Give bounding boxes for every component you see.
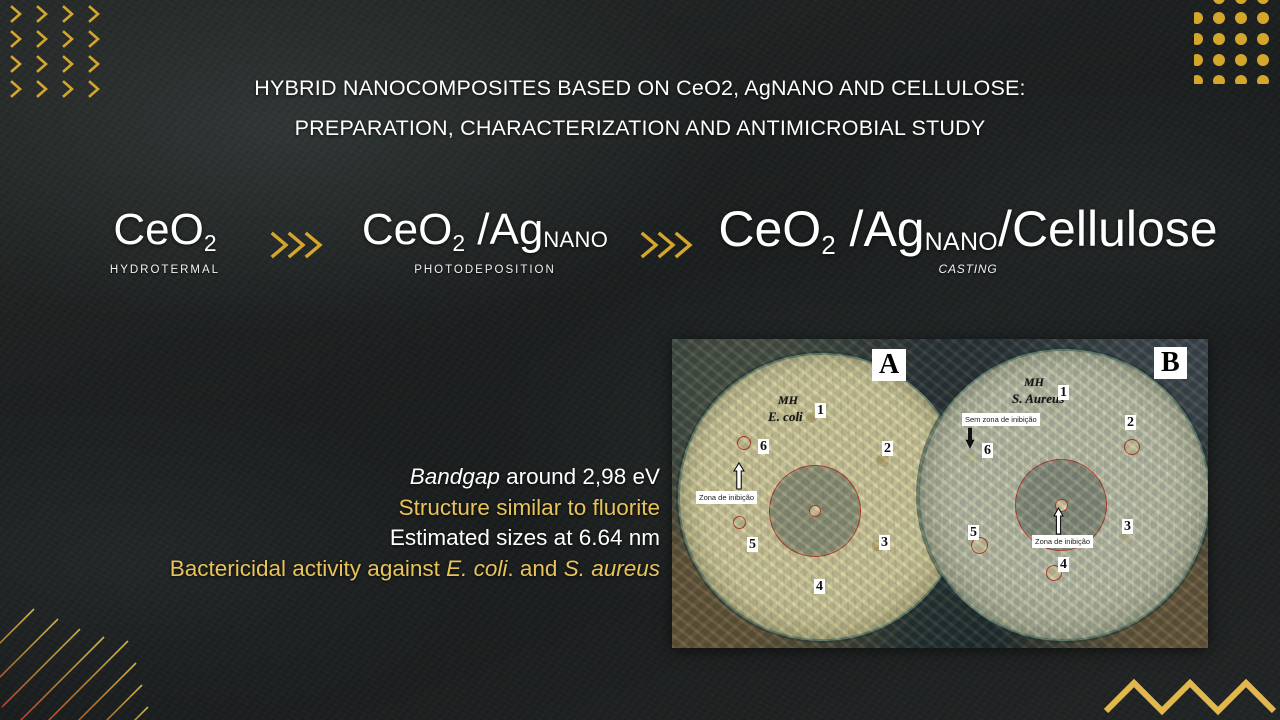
zigzag-decoration — [1100, 665, 1280, 720]
flow-step-1-formula: CeO2 — [95, 208, 235, 252]
title-line-1: HYBRID NANOCOMPOSITES BASED ON CeO2, AgN… — [130, 68, 1150, 108]
spot-number-b-2: 2 — [1125, 415, 1136, 430]
sample-spot-b-6 — [964, 451, 976, 463]
finding-item-1: Bandgap around 2,98 eV — [40, 462, 660, 493]
page-title: HYBRID NANOCOMPOSITES BASED ON CeO2, AgN… — [130, 68, 1150, 148]
spot-number-a-5: 5 — [747, 537, 758, 552]
callout-a-zone: Zona de inibição — [696, 491, 757, 504]
callout-arrow-b-no-zone — [964, 427, 976, 449]
chevron-pattern-decoration — [8, 2, 118, 102]
dot-grid-decoration — [1194, 0, 1280, 84]
handwriting-b-medium: MH — [1024, 375, 1044, 390]
spot-number-a-2: 2 — [882, 441, 893, 456]
spot-number-b-1: 1 — [1058, 385, 1069, 400]
finding-item-3: Estimated sizes at 6.64 nm — [40, 523, 660, 554]
flow-step-2-process-label: PHOTODEPOSITION — [350, 264, 620, 276]
flow-separator-icon-1 — [268, 228, 328, 262]
panel-label-b: B — [1154, 347, 1187, 379]
inhibition-zone-a-spot5 — [733, 516, 746, 529]
callout-arrow-a — [732, 462, 746, 490]
handwriting-b-species: S. Aureus — [1012, 391, 1064, 407]
finding-item-2: Structure similar to fluorite — [40, 493, 660, 524]
callout-b-no-zone: Sem zona de inibição — [962, 413, 1040, 426]
synthesis-flow-diagram: CeO2 HYDROTERMAL CeO2 /AgNANO PHOTODEPOS… — [0, 200, 1280, 310]
inhibition-zone-a-spot6 — [737, 436, 751, 450]
finding-item-4: Bactericidal activity against E. coli. a… — [40, 554, 660, 585]
petri-dish-photograph: A MH E. coli 1 2 6 3 4 5 Zona de inibiçã… — [672, 339, 1208, 648]
sample-spot-b-3 — [1120, 533, 1132, 545]
handwriting-a-medium: MH — [778, 393, 798, 408]
diagonal-lines-decoration — [0, 595, 150, 720]
callout-b-zone: Zona de inibição — [1032, 535, 1093, 548]
inhibition-zone-b-spot2 — [1124, 439, 1140, 455]
flow-step-1: CeO2 HYDROTERMAL — [95, 208, 235, 276]
findings-list: Bandgap around 2,98 eV Structure similar… — [40, 462, 660, 584]
flow-step-2-formula: CeO2 /AgNANO — [350, 208, 620, 252]
panel-label-a: A — [872, 349, 906, 381]
flow-step-3: CeO2 /AgNANO/Cellulose CASTING — [718, 204, 1218, 276]
inhibition-zone-a-center — [809, 505, 821, 517]
spot-number-a-1: 1 — [815, 403, 826, 418]
flow-step-1-process-label: HYDROTERMAL — [95, 264, 235, 276]
spot-number-b-6: 6 — [982, 443, 993, 458]
handwriting-a-species: E. coli — [768, 409, 803, 425]
spot-number-a-4: 4 — [814, 579, 825, 594]
spot-number-a-3: 3 — [879, 535, 890, 550]
title-line-2: PREPARATION, CHARACTERIZATION AND ANTIMI… — [130, 108, 1150, 148]
spot-number-b-4: 4 — [1058, 557, 1069, 572]
spot-number-b-5: 5 — [968, 525, 979, 540]
spot-number-b-3: 3 — [1122, 519, 1133, 534]
slide-canvas: HYBRID NANOCOMPOSITES BASED ON CeO2, AgN… — [0, 0, 1280, 720]
flow-step-3-process-label: CASTING — [718, 262, 1218, 276]
spot-number-a-6: 6 — [758, 439, 769, 454]
flow-step-2: CeO2 /AgNANO PHOTODEPOSITION — [350, 208, 620, 276]
flow-step-3-formula: CeO2 /AgNANO/Cellulose — [718, 204, 1218, 254]
flow-separator-icon-2 — [638, 228, 698, 262]
callout-arrow-b-zone — [1052, 507, 1065, 535]
